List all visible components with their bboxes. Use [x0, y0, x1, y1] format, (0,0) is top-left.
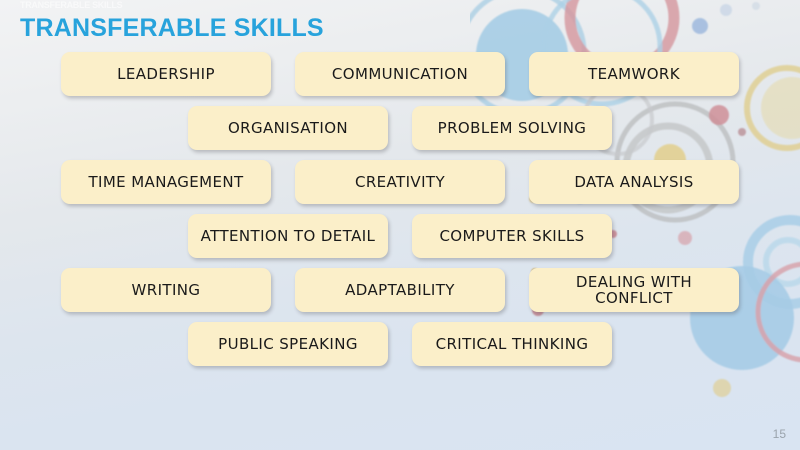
skill-chip[interactable]: DEALING WITH CONFLICT	[529, 268, 739, 312]
skill-chip[interactable]: CREATIVITY	[295, 160, 505, 204]
skills-row: LEADERSHIPCOMMUNICATIONTEAMWORK	[0, 52, 800, 96]
skills-row: ATTENTION TO DETAILCOMPUTER SKILLS	[0, 214, 800, 258]
skills-row: ORGANISATIONPROBLEM SOLVING	[0, 106, 800, 150]
skill-chip[interactable]: TEAMWORK	[529, 52, 739, 96]
skill-chip[interactable]: PUBLIC SPEAKING	[188, 322, 388, 366]
skill-chip[interactable]: TIME MANAGEMENT	[61, 160, 271, 204]
slide-canvas: TRANSFERABLE SKILLS TRANSFERABLE SKILLS …	[0, 0, 800, 450]
skill-chip[interactable]: COMMUNICATION	[295, 52, 505, 96]
skill-chip[interactable]: PROBLEM SOLVING	[412, 106, 612, 150]
title-watermark: TRANSFERABLE SKILLS	[20, 0, 122, 10]
skill-chip[interactable]: ORGANISATION	[188, 106, 388, 150]
skills-row: WRITINGADAPTABILITYDEALING WITH CONFLICT	[0, 268, 800, 312]
skill-chip[interactable]: ATTENTION TO DETAIL	[188, 214, 388, 258]
skills-row: TIME MANAGEMENTCREATIVITYDATA ANALYSIS	[0, 160, 800, 204]
page-title: TRANSFERABLE SKILLS	[20, 14, 324, 43]
skill-chip[interactable]: WRITING	[61, 268, 271, 312]
skill-chip[interactable]: CRITICAL THINKING	[412, 322, 612, 366]
skills-row: PUBLIC SPEAKINGCRITICAL THINKING	[0, 322, 800, 366]
skills-grid: LEADERSHIPCOMMUNICATIONTEAMWORKORGANISAT…	[0, 52, 800, 376]
skill-chip[interactable]: LEADERSHIP	[61, 52, 271, 96]
skill-chip[interactable]: ADAPTABILITY	[295, 268, 505, 312]
skill-chip[interactable]: DATA ANALYSIS	[529, 160, 739, 204]
page-number: 15	[773, 427, 786, 441]
skill-chip[interactable]: COMPUTER SKILLS	[412, 214, 612, 258]
